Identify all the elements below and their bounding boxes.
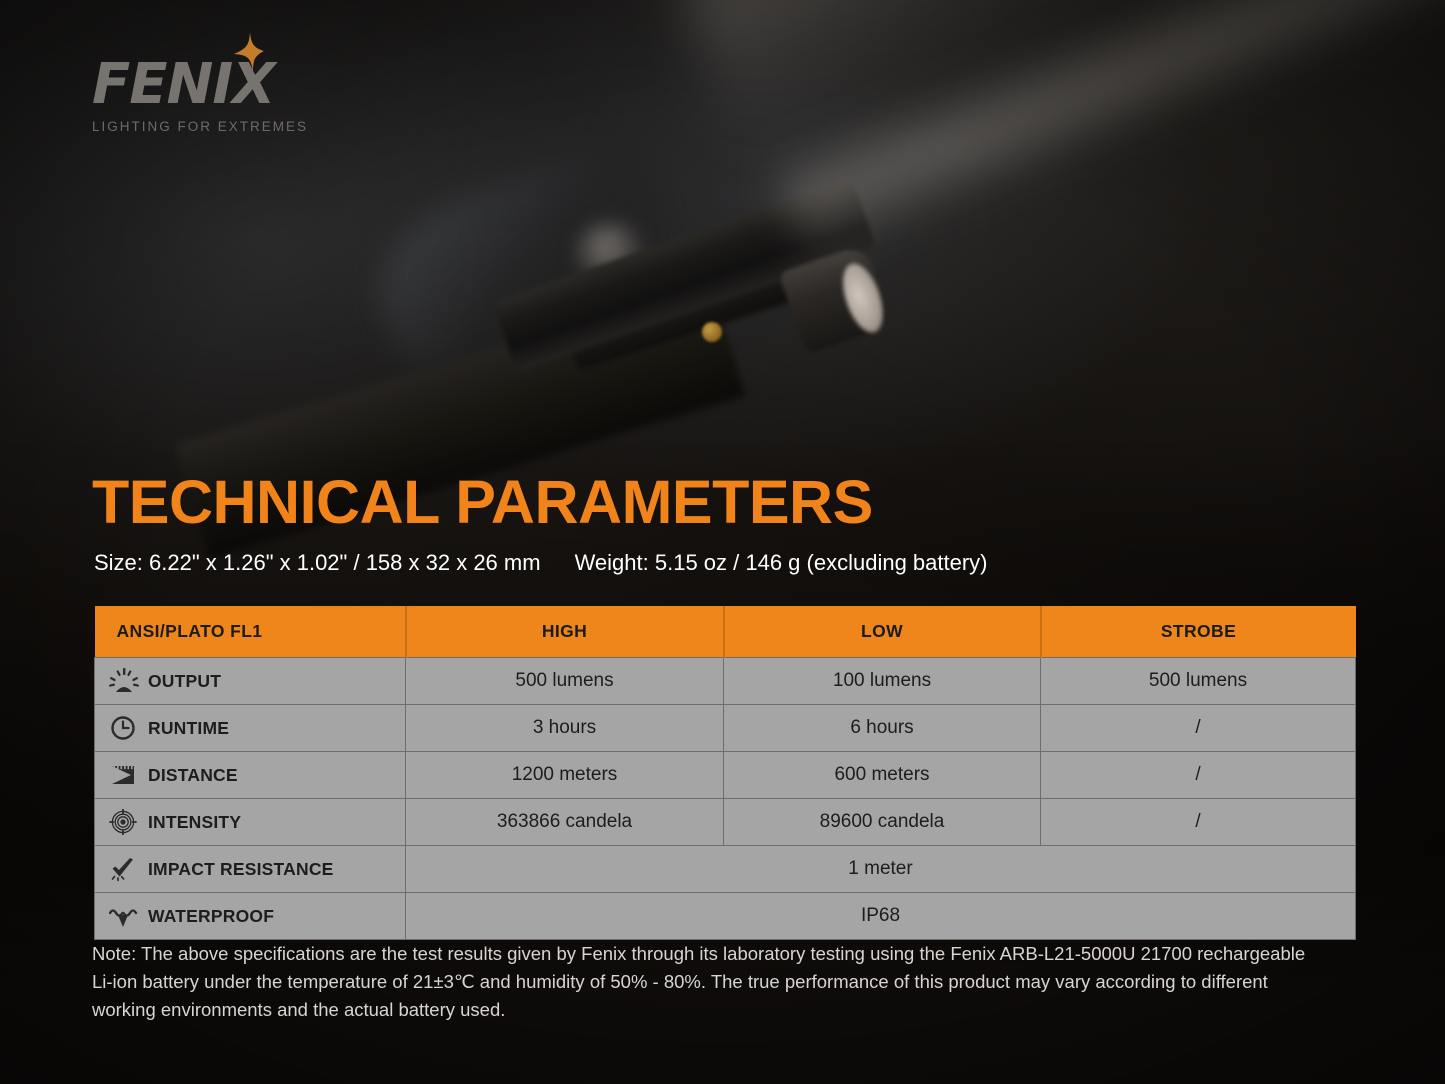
cell-runtime-high: 3 hours: [406, 705, 724, 752]
fenix-logo: FENIX LIGHTING FOR EXTREMES: [92, 57, 322, 134]
cell-intensity-low: 89600 candela: [724, 799, 1041, 846]
column-header-high: HIGH: [406, 606, 724, 658]
specifications-note: Note: The above specifications are the t…: [92, 940, 1322, 1024]
size-weight-line: Size: 6.22" x 1.26" x 1.02" / 158 x 32 x…: [94, 550, 988, 576]
column-header-standard: ANSI/PLATO FL1: [95, 606, 406, 658]
column-header-strobe: STROBE: [1041, 606, 1356, 658]
row-label-text: IMPACT RESISTANCE: [148, 859, 334, 879]
technical-parameters-table: ANSI/PLATO FL1 HIGH LOW STROBE: [94, 606, 1356, 940]
row-label-text: OUTPUT: [148, 671, 221, 691]
row-label-distance: DISTANCE: [95, 752, 406, 799]
cell-runtime-low: 6 hours: [724, 705, 1041, 752]
waterdrop-icon: [109, 903, 139, 929]
row-label-text: INTENSITY: [148, 812, 241, 832]
table-row: INTENSITY 363866 candela 89600 candela /: [95, 799, 1356, 846]
row-label-text: RUNTIME: [148, 718, 229, 738]
cell-distance-low: 600 meters: [724, 752, 1041, 799]
size-text: Size: 6.22" x 1.26" x 1.02" / 158 x 32 x…: [94, 550, 541, 575]
cell-distance-strobe: /: [1041, 752, 1356, 799]
table-header-row: ANSI/PLATO FL1 HIGH LOW STROBE: [95, 606, 1356, 658]
table-row: OUTPUT 500 lumens 100 lumens 500 lumens: [95, 658, 1356, 705]
cell-distance-high: 1200 meters: [406, 752, 724, 799]
clock-icon: [109, 715, 139, 741]
fenix-wordmark: FENIX: [92, 57, 322, 113]
cell-intensity-high: 363866 candela: [406, 799, 724, 846]
weight-text: Weight: 5.15 oz / 146 g (excluding batte…: [575, 550, 988, 575]
cell-impact-resistance-value: 1 meter: [406, 846, 1356, 893]
cell-output-low: 100 lumens: [724, 658, 1041, 705]
sunburst-icon: [109, 668, 139, 694]
product-spec-page: FENIX LIGHTING FOR EXTREMES TECHNICAL PA…: [0, 0, 1445, 1084]
star-spark-icon: [230, 32, 264, 72]
fenix-tagline: LIGHTING FOR EXTREMES: [92, 119, 322, 134]
target-icon: [109, 809, 139, 835]
cell-output-strobe: 500 lumens: [1041, 658, 1356, 705]
cell-output-high: 500 lumens: [406, 658, 724, 705]
cell-runtime-strobe: /: [1041, 705, 1356, 752]
row-label-intensity: INTENSITY: [95, 799, 406, 846]
cell-intensity-strobe: /: [1041, 799, 1356, 846]
table-row: IMPACT RESISTANCE 1 meter: [95, 846, 1356, 893]
table-row: RUNTIME 3 hours 6 hours /: [95, 705, 1356, 752]
table-row: WATERPROOF IP68: [95, 893, 1356, 940]
row-label-text: WATERPROOF: [148, 906, 274, 926]
row-label-output: OUTPUT: [95, 658, 406, 705]
row-label-waterproof: WATERPROOF: [95, 893, 406, 940]
row-label-runtime: RUNTIME: [95, 705, 406, 752]
column-header-low: LOW: [724, 606, 1041, 658]
cell-waterproof-value: IP68: [406, 893, 1356, 940]
row-label-text: DISTANCE: [148, 765, 238, 785]
beam-icon: [109, 762, 139, 788]
table-row: DISTANCE 1200 meters 600 meters /: [95, 752, 1356, 799]
page-title: TECHNICAL PARAMETERS: [92, 472, 873, 533]
row-label-impact-resistance: IMPACT RESISTANCE: [95, 846, 406, 893]
impact-icon: [109, 856, 139, 882]
